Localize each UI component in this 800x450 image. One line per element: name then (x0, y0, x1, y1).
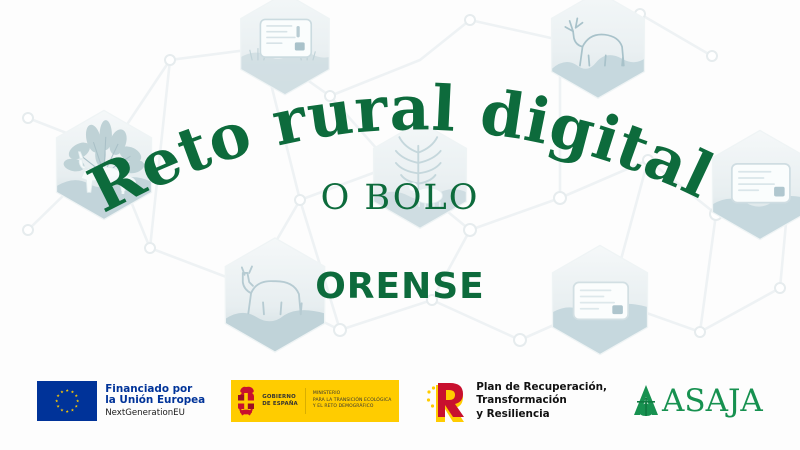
hex-deer-top-right (552, 0, 645, 119)
gobierno-divider (305, 388, 306, 414)
eu-line-2: la Unión Europea (105, 395, 205, 407)
eu-logo-text: Financiado por la Unión Europea NextGene… (105, 384, 205, 419)
eu-star (56, 405, 59, 408)
eu-line-3: NextGenerationEU (105, 409, 205, 419)
spain-coat-of-arms-icon (235, 386, 257, 416)
hex-cow-bottom (225, 238, 324, 378)
eu-star (71, 390, 74, 393)
prtr-monogram-icon (425, 380, 469, 422)
asaja-logo: ASAJA (633, 384, 763, 418)
hex-plants-deer-left (56, 110, 151, 243)
prtr-line-2: Transformación (476, 394, 607, 408)
eu-star (66, 410, 69, 413)
subtitle-province: ORENSE (0, 266, 800, 307)
eu-star (66, 389, 69, 392)
asaja-wordmark: ASAJA (662, 386, 763, 417)
gobierno-de-espana-logo: GOBIERNO DE ESPAÑA MINISTERIO PARA LA TR… (231, 380, 399, 422)
eu-star (60, 408, 63, 411)
gobierno-text: GOBIERNO DE ESPAÑA (262, 394, 298, 409)
subtitle-town: O BOLO (0, 178, 800, 218)
eu-star (75, 405, 78, 408)
gobierno-line-2: DE ESPAÑA (262, 401, 298, 408)
prtr-line-3: y Resiliencia (476, 408, 607, 422)
prtr-logo-text: Plan de Recuperación, Transformación y R… (476, 381, 607, 422)
ministerio-line-1: MINISTERIO (313, 391, 391, 398)
hex-device-top-left (241, 0, 334, 121)
eu-star (56, 394, 59, 397)
ministerio-text: MINISTERIO PARA LA TRANSICIÓN ECOLÓGICA … (313, 391, 391, 411)
poster-canvas: Reto rural digital O BOLO ORENSE Financi… (0, 0, 800, 450)
plan-de-recuperacion-logo: Plan de Recuperación, Transformación y R… (425, 380, 607, 422)
prtr-line-1: Plan de Recuperación, (476, 381, 607, 395)
funding-logo-strip: Financiado por la Unión Europea NextGene… (0, 370, 800, 432)
ministerio-line-3: Y EL RETO DEMOGRÁFICO (313, 404, 391, 411)
eu-flag-icon (37, 381, 97, 421)
asaja-tree-icon (633, 384, 659, 418)
eu-star (71, 408, 74, 411)
gobierno-line-1: GOBIERNO (262, 394, 298, 401)
eu-star (76, 399, 79, 402)
eu-star (75, 394, 78, 397)
european-union-funding-logo: Financiado por la Unión Europea NextGene… (37, 381, 205, 421)
eu-star (55, 399, 58, 402)
eu-star (60, 390, 63, 393)
